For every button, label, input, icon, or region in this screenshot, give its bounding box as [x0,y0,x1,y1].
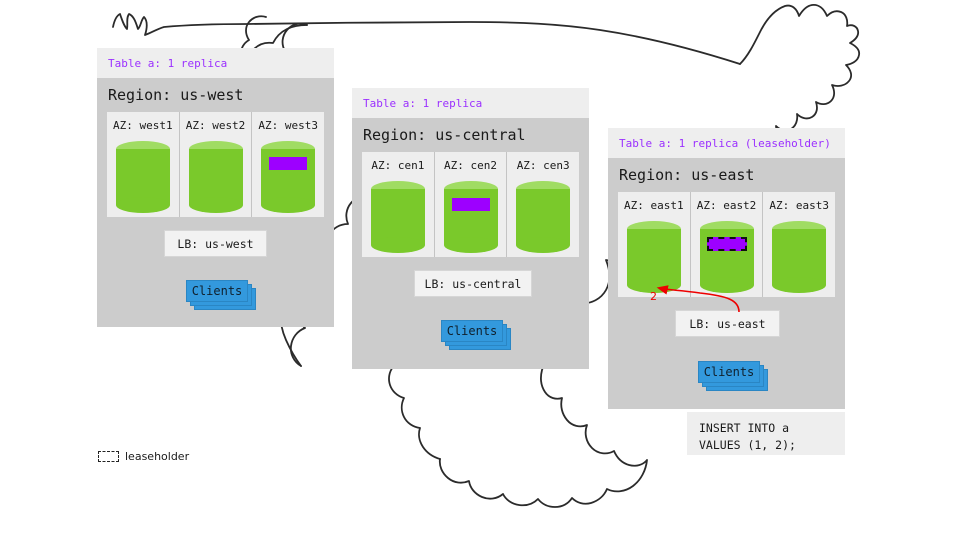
cylinder-bottom-icon [189,197,243,213]
arrow-step-label: 2 [650,290,657,303]
clients-button-us-central[interactable]: Clients [441,320,515,352]
az-cell-cen2[interactable]: AZ: cen2 [434,152,507,257]
az-cell-cen3[interactable]: AZ: cen3 [506,152,579,257]
az-label: AZ: east1 [624,199,684,212]
az-cell-east3[interactable]: AZ: east3 [762,192,835,297]
region-title-us-central: Region: us-central [363,126,526,144]
az-cell-cen1[interactable]: AZ: cen1 [362,152,434,257]
legend-leaseholder: leaseholder [98,450,189,463]
replica-block[interactable] [452,198,490,211]
cylinder-bottom-icon [371,237,425,253]
table-replica-label: Table a: 1 replica (leaseholder) [619,137,831,150]
az-label: AZ: cen3 [517,159,570,172]
az-cell-west3[interactable]: AZ: west3 [251,112,324,217]
clients-label[interactable]: Clients [441,320,503,342]
node-cylinder[interactable] [371,181,425,253]
table-replica-label: Table a: 1 replica [108,57,227,70]
cylinder-bottom-icon [261,197,315,213]
node-cylinder[interactable] [516,181,570,253]
table-replica-label: Table a: 1 replica [363,97,482,110]
node-cylinder[interactable] [772,221,826,293]
az-cell-east2[interactable]: AZ: east2 [690,192,763,297]
az-container-us-west: AZ: west1 AZ: west2 AZ: west3 [107,112,324,217]
legend-label: leaseholder [125,450,189,463]
cylinder-bottom-icon [444,237,498,253]
node-cylinder[interactable] [116,141,170,213]
az-label: AZ: cen1 [371,159,424,172]
cylinder-bottom-icon [772,277,826,293]
clients-label[interactable]: Clients [698,361,760,383]
sql-statement-box: INSERT INTO a VALUES (1, 2); [687,412,845,455]
panel-header-us-west: Table a: 1 replica [97,48,334,78]
load-balancer-us-west[interactable]: LB: us-west [164,230,267,257]
cylinder-bottom-icon [516,237,570,253]
az-label: AZ: east3 [769,199,829,212]
node-cylinder[interactable] [261,141,315,213]
az-label: AZ: west2 [186,119,246,132]
clients-button-us-east[interactable]: Clients [698,361,772,393]
az-cell-west2[interactable]: AZ: west2 [179,112,252,217]
az-label: AZ: cen2 [444,159,497,172]
diagram-canvas: Table a: 1 replica Region: us-west AZ: w… [0,0,960,540]
load-balancer-us-east[interactable]: LB: us-east [675,310,780,337]
az-label: AZ: west3 [258,119,318,132]
clients-label[interactable]: Clients [186,280,248,302]
replica-block-leaseholder[interactable] [707,237,747,251]
dashed-rect-icon [98,451,119,462]
region-title-us-east: Region: us-east [619,166,754,184]
az-container-us-central: AZ: cen1 AZ: cen2 AZ: cen3 [362,152,579,257]
panel-header-us-central: Table a: 1 replica [352,88,589,118]
clients-button-us-west[interactable]: Clients [186,280,260,312]
load-balancer-us-central[interactable]: LB: us-central [414,270,532,297]
az-container-us-east: AZ: east1 AZ: east2 AZ: east3 [618,192,835,297]
cylinder-bottom-icon [116,197,170,213]
node-cylinder[interactable] [627,221,681,293]
cylinder-bottom-icon [700,277,754,293]
node-cylinder[interactable] [444,181,498,253]
az-label: AZ: west1 [113,119,173,132]
replica-block[interactable] [269,157,307,170]
node-cylinder[interactable] [189,141,243,213]
region-title-us-west: Region: us-west [108,86,243,104]
panel-header-us-east: Table a: 1 replica (leaseholder) [608,128,845,158]
az-label: AZ: east2 [697,199,757,212]
node-cylinder[interactable] [700,221,754,293]
az-cell-west1[interactable]: AZ: west1 [107,112,179,217]
az-cell-east1[interactable]: AZ: east1 [618,192,690,297]
